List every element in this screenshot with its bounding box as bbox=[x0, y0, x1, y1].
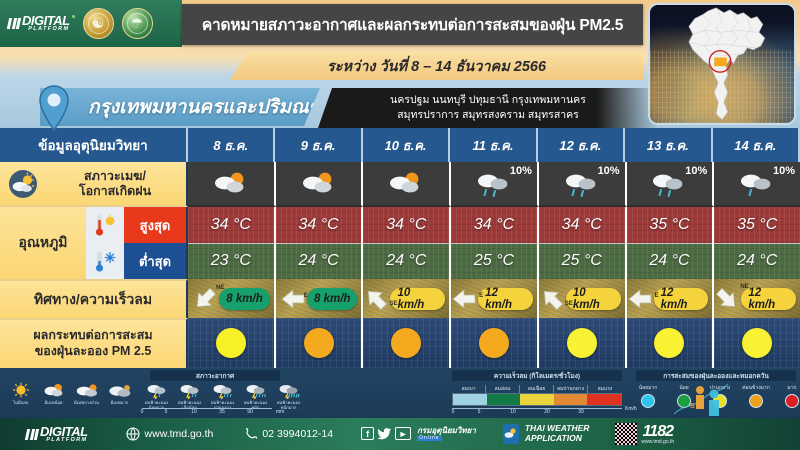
footer-phone-text: 02 3994012-14 bbox=[262, 428, 333, 440]
wind-direction-label-0: NE bbox=[216, 285, 224, 291]
legend-item-rain-4: ฝนฟ้าคะนอง หนัก bbox=[239, 382, 272, 411]
page-title-text: คาดหมายสภาวะอากาศและผลกระทบต่อการสะสมของ… bbox=[202, 12, 623, 37]
pm25-indicator-5 bbox=[654, 328, 684, 358]
province-line-1: นครปฐม นนทบุรี ปทุมธานี กรุงเทพมหานคร bbox=[390, 93, 586, 108]
wind-color-scale bbox=[452, 393, 622, 406]
wind-row-label: ทิศทาง/ความเร็วลม bbox=[0, 279, 188, 318]
temp-col-0: 34 °C 23 °C bbox=[188, 207, 276, 279]
temp-col-5: 35 °C 24 °C bbox=[627, 207, 715, 279]
partly-cloudy-icon bbox=[385, 169, 427, 199]
province-line-2: สมุทรปราการ สมุทรสงคราม สมุทรสาคร bbox=[397, 108, 579, 123]
sun-icon bbox=[11, 382, 31, 399]
temp-col-1: 34 °C 24 °C bbox=[276, 207, 364, 279]
legend-item-rain-1: ฝนฟ้าคะนอง น้อยมาก bbox=[140, 382, 173, 411]
max-temp-5: 35 °C bbox=[627, 207, 713, 244]
location-pin-icon bbox=[36, 84, 72, 132]
wind-swatch-4 bbox=[587, 394, 621, 405]
youtube-icon[interactable]: ► bbox=[395, 427, 411, 440]
region-name: กรุงเทพมหานครและปริมณฑล bbox=[88, 92, 336, 122]
thunderstorm-icon bbox=[244, 382, 268, 399]
app-icon bbox=[502, 423, 520, 445]
cloud-cell-1 bbox=[276, 162, 364, 207]
wind-direction-arrow-icon bbox=[627, 286, 653, 312]
facebook-icon[interactable]: f bbox=[361, 427, 374, 440]
min-temp-label: ต่ำสุด bbox=[124, 243, 186, 279]
wind-tick-0: 0 bbox=[444, 409, 462, 415]
wind-direction-label-4: SE bbox=[565, 301, 573, 307]
dust-item-4: มาก bbox=[774, 384, 800, 408]
wind-direction-arrow-icon bbox=[280, 286, 306, 312]
wind-cell-0: NE 8 km/h bbox=[188, 279, 276, 318]
rain-cloud-icon bbox=[473, 168, 515, 200]
temp-col-2: 34 °C 24 °C bbox=[363, 207, 451, 279]
rain-cloud-icon bbox=[561, 168, 603, 200]
cloud-cell-0 bbox=[188, 162, 276, 207]
wind-cell-4: SE 10 km/h bbox=[539, 279, 627, 318]
partly-cloudy-icon bbox=[41, 382, 67, 399]
rain-legend-items: ฝนฟ้าคะนอง น้อยมาก ฝนฟ้าคะนอง เล็กน้อย ฝ… bbox=[140, 382, 305, 411]
date-header-0: 8 ธ.ค. bbox=[188, 128, 275, 162]
max-temp-chip: สูงสุด bbox=[86, 207, 186, 243]
people-illustration: S bbox=[670, 374, 730, 418]
forecast-table: ข้อมูลอุตุนิยมวิทยา 8 ธ.ค. 9 ธ.ค. 10 ธ.ค… bbox=[0, 128, 800, 368]
footer-brand-subtitle: PLATFORM bbox=[40, 438, 88, 444]
legend-item-cloudy: มีเมฆมาก bbox=[103, 382, 136, 405]
legend-label-cloudy: มีเมฆมาก bbox=[111, 400, 129, 405]
legend-item-rain-3: ฝนฟ้าคะนอง ปานกลาง bbox=[206, 382, 239, 411]
wind-tick-3: 20 bbox=[530, 409, 564, 415]
thunderstorm-icon bbox=[145, 382, 169, 399]
pm25-label-line-1: ผลกระทบต่อการสะสม bbox=[33, 328, 152, 344]
temp-col-3: 34 °C 25 °C bbox=[451, 207, 539, 279]
pm25-indicator-1 bbox=[304, 328, 334, 358]
legend-item-few-clouds: มีเมฆน้อย bbox=[37, 382, 70, 405]
rain-tick-0: 0 bbox=[132, 409, 152, 415]
rain-cloud-icon bbox=[648, 168, 690, 200]
min-temp-0: 23 °C bbox=[188, 244, 274, 280]
footer-social-sub: Online bbox=[417, 436, 441, 441]
thunderstorm-icon bbox=[178, 382, 202, 399]
min-temp-4: 25 °C bbox=[539, 244, 625, 280]
rain-tick-2: 10 bbox=[180, 409, 208, 415]
cloud-row-label-text: สภาวะเมฆ/ โอกาสเกิดฝน bbox=[44, 169, 186, 199]
footer-website[interactable]: www.tmd.go.th bbox=[126, 427, 214, 441]
pm25-cell-2 bbox=[363, 318, 451, 368]
cloud-cell-5: 10% bbox=[627, 162, 715, 207]
pm25-indicator-3 bbox=[479, 328, 509, 358]
pm25-label-line-2: ของฝุ่นละออง PM 2.5 bbox=[35, 344, 152, 360]
province-list: นครปฐม นนทบุรี ปทุมธานี กรุงเทพมหานคร สม… bbox=[318, 88, 658, 128]
footer-logo: DIGITAL PLATFORM bbox=[26, 425, 88, 444]
wind-swatch-1 bbox=[487, 394, 521, 405]
wind-direction-arrow-icon bbox=[451, 286, 477, 312]
region-banner: กรุงเทพมหานครและปริมณฑล bbox=[40, 88, 320, 126]
min-temp-3: 25 °C bbox=[451, 244, 537, 280]
wind-swatch-0 bbox=[453, 394, 487, 405]
pm25-indicator-4 bbox=[567, 328, 597, 358]
footer-hotline-number: 1182 bbox=[643, 424, 673, 440]
wind-category-labels: ลมเบา ลมอ่อน ลมเฉื่อย ลมปานกลาง ลมแรง bbox=[452, 385, 622, 393]
temperature-label-text: อุณหภูมิ bbox=[0, 207, 86, 279]
wind-direction-label-5: E bbox=[655, 293, 659, 299]
footer-hotline[interactable]: 1182 www.tmd.go.th bbox=[615, 423, 674, 445]
legend-label-partly-cloudy: มีเมฆบางส่วน bbox=[74, 400, 99, 405]
wind-speed-5: 12 km/h bbox=[654, 288, 709, 310]
footer-app-line-2: APPLICATION bbox=[525, 434, 590, 444]
date-header-1: 9 ธ.ค. bbox=[275, 128, 362, 162]
max-temp-3: 34 °C bbox=[451, 207, 537, 244]
footer-website-text: www.tmd.go.th bbox=[145, 428, 214, 440]
max-temp-4: 34 °C bbox=[539, 207, 625, 244]
footer-brand-name: DIGITAL bbox=[40, 425, 88, 438]
thermometer-cold-icon bbox=[86, 243, 124, 279]
pm25-row-label: ผลกระทบต่อการสะสม ของฝุ่นละออง PM 2.5 bbox=[0, 318, 188, 368]
min-temp-chip: ต่ำสุด bbox=[86, 243, 186, 279]
wind-speed-0: 8 km/h bbox=[219, 288, 269, 310]
date-header-5: 13 ธ.ค. bbox=[625, 128, 712, 162]
wind-cell-3: E 12 km/h bbox=[451, 279, 539, 318]
legend-bar: สภาวะอากาศ ความเร็วลม (กิโลเมตร/ชั่วโมง)… bbox=[0, 368, 800, 418]
rain-chance-3: 10% bbox=[510, 165, 532, 177]
phone-icon bbox=[243, 427, 257, 441]
wind-speed-4: 10 km/h bbox=[566, 288, 621, 310]
svg-text:S: S bbox=[690, 403, 695, 410]
cloud-cell-2 bbox=[363, 162, 451, 207]
wind-row: ทิศทาง/ความเร็วลม NE 8 km/h E 8 km/h SE … bbox=[0, 279, 800, 318]
legend-item-clear: ไม่มีเมฆ bbox=[4, 382, 37, 405]
partly-cloudy-sun-icon bbox=[8, 169, 38, 199]
partly-cloudy-icon bbox=[210, 169, 252, 199]
rain-unit-label: mm bbox=[276, 409, 284, 415]
wind-direction-label-3: E bbox=[479, 293, 483, 299]
wind-speed-3: 12 km/h bbox=[478, 288, 533, 310]
cloudy-icon bbox=[107, 382, 133, 399]
wind-swatch-2 bbox=[520, 394, 554, 405]
dust-swatch-3 bbox=[749, 394, 763, 408]
pm25-cell-5 bbox=[627, 318, 715, 368]
thunderstorm-icon bbox=[277, 382, 301, 399]
wind-legend-title: ความเร็วลม (กิโลเมตร/ชั่วโมง) bbox=[452, 370, 622, 381]
dust-item-3: ค่อนข้างมาก bbox=[738, 384, 774, 408]
pm25-impact-row: ผลกระทบต่อการสะสม ของฝุ่นละออง PM 2.5 bbox=[0, 318, 800, 368]
dust-label-4: มาก bbox=[787, 384, 796, 392]
wind-cat-2: ลมเฉื่อย bbox=[520, 385, 554, 393]
footer-app[interactable]: THAI WEATHER APPLICATION bbox=[502, 423, 590, 445]
wind-direction-label-6: NE bbox=[740, 284, 748, 290]
legend-label-clear: ไม่มีเมฆ bbox=[13, 400, 28, 405]
wind-cell-2: SE 10 km/h bbox=[363, 279, 451, 318]
cloud-cell-6: 10% bbox=[714, 162, 800, 207]
legend-item-partly-cloudy: มีเมฆบางส่วน bbox=[70, 382, 103, 405]
wind-scale-ticks: 0 5 10 20 30 bbox=[444, 409, 598, 415]
dust-swatch-4 bbox=[785, 394, 799, 408]
min-temp-2: 24 °C bbox=[363, 244, 449, 280]
wind-cell-6: NE 12 km/h bbox=[714, 279, 800, 318]
thermometer-hot-icon bbox=[86, 207, 124, 243]
thailand-map-outline bbox=[650, 5, 794, 124]
max-temp-label: สูงสุด bbox=[124, 207, 186, 243]
corner-label-text: ข้อมูลอุตุนิยมวิทยา bbox=[38, 134, 147, 156]
wind-swatch-3 bbox=[554, 394, 588, 405]
rain-chance-4: 10% bbox=[598, 165, 620, 177]
wind-direction-label-1: E bbox=[304, 293, 308, 299]
wind-tick-1: 5 bbox=[462, 409, 496, 415]
dust-label-3: ค่อนข้างมาก bbox=[742, 384, 770, 392]
max-temp-6: 35 °C bbox=[714, 207, 800, 244]
wind-cell-5: E 12 km/h bbox=[627, 279, 715, 318]
rain-chance-6: 10% bbox=[773, 165, 795, 177]
dust-swatch-0 bbox=[641, 394, 655, 408]
qr-code-icon[interactable] bbox=[615, 423, 637, 445]
temp-col-6: 35 °C 24 °C bbox=[714, 207, 800, 279]
tmd-seal-icon: ☂ bbox=[122, 8, 153, 39]
royal-seal-icon: ☯ bbox=[83, 8, 114, 39]
rain-tick-1: 5 bbox=[152, 409, 180, 415]
legend-item-rain-2: ฝนฟ้าคะนอง เล็กน้อย bbox=[173, 382, 206, 411]
thailand-map bbox=[648, 3, 796, 125]
max-temp-1: 34 °C bbox=[276, 207, 362, 244]
min-temp-6: 24 °C bbox=[714, 244, 800, 280]
temperature-row-label: อุณหภูมิ สูงสุด bbox=[0, 207, 188, 279]
date-header-4: 12 ธ.ค. bbox=[538, 128, 625, 162]
wind-cat-3: ลมปานกลาง bbox=[554, 385, 588, 393]
wind-cell-1: E 8 km/h bbox=[276, 279, 364, 318]
pm25-cell-0 bbox=[188, 318, 276, 368]
brand-bar: DIGITAL PLATFORM ☯ ☂ bbox=[0, 0, 182, 47]
wind-cat-4: ลมแรง bbox=[588, 385, 622, 393]
logo-bars-icon bbox=[26, 429, 38, 440]
dust-label-0: น้อยมาก bbox=[639, 384, 657, 392]
page-footer: DIGITAL PLATFORM www.tmd.go.th 02 399401… bbox=[0, 418, 800, 450]
temperature-row: อุณหภูมิ สูงสุด bbox=[0, 207, 800, 279]
max-temp-2: 34 °C bbox=[363, 207, 449, 244]
date-range-text: ระหว่าง วันที่ 8 – 14 ธันวาคม 2566 bbox=[327, 55, 546, 78]
wind-direction-label-2: SE bbox=[389, 301, 397, 307]
date-header-2: 10 ธ.ค. bbox=[363, 128, 450, 162]
rain-chance-5: 10% bbox=[685, 165, 707, 177]
thunderstorm-icon bbox=[211, 382, 235, 399]
date-range-banner: ระหว่าง วันที่ 8 – 14 ธันวาคม 2566 bbox=[230, 52, 643, 80]
pm25-cell-1 bbox=[276, 318, 364, 368]
date-header-3: 11 ธ.ค. bbox=[450, 128, 537, 162]
digital-platform-logo: DIGITAL PLATFORM bbox=[8, 14, 75, 33]
wind-speed-2: 10 km/h bbox=[390, 288, 445, 310]
wind-cat-1: ลมอ่อน bbox=[486, 385, 520, 393]
twitter-icon[interactable] bbox=[377, 427, 392, 440]
pm25-indicator-6 bbox=[742, 328, 772, 358]
brand-subtitle: PLATFORM bbox=[22, 27, 70, 33]
max-temp-0: 34 °C bbox=[188, 207, 274, 244]
logo-dot-icon bbox=[72, 15, 75, 18]
pm25-cell-4 bbox=[539, 318, 627, 368]
min-temp-5: 24 °C bbox=[627, 244, 713, 280]
logo-bars-icon bbox=[8, 18, 20, 29]
wind-row-label-text: ทิศทาง/ความเร็วลม bbox=[34, 289, 152, 311]
footer-qr-caption: www.tmd.go.th bbox=[641, 440, 674, 445]
wind-cat-0: ลมเบา bbox=[452, 385, 486, 393]
wind-tick-2: 10 bbox=[496, 409, 530, 415]
rain-tick-3: 35 bbox=[208, 409, 236, 415]
pm25-cell-6 bbox=[714, 318, 800, 368]
legend-item-rain-5: ฝนฟ้าคะนอง หนักมาก bbox=[272, 382, 305, 411]
page-header: DIGITAL PLATFORM ☯ ☂ คาดหมายสภาวะอากาศแล… bbox=[0, 0, 800, 128]
pm25-indicator-2 bbox=[391, 328, 421, 358]
weather-legend-title: สภาวะอากาศ bbox=[150, 370, 280, 381]
globe-icon bbox=[126, 427, 140, 441]
temp-col-4: 34 °C 25 °C bbox=[539, 207, 627, 279]
pm25-cell-3 bbox=[451, 318, 539, 368]
rain-scale-ticks: 0 5 10 35 90 bbox=[132, 409, 264, 415]
wind-tick-4: 30 bbox=[564, 409, 598, 415]
weather-legend-items: ไม่มีเมฆ มีเมฆน้อย มีเมฆบางส่วน มีเมฆมาก bbox=[4, 382, 136, 405]
mostly-cloudy-icon bbox=[74, 382, 100, 399]
legend-label-few-clouds: มีเมฆน้อย bbox=[45, 400, 63, 405]
date-header-6: 14 ธ.ค. bbox=[713, 128, 800, 162]
cloud-cell-4: 10% bbox=[539, 162, 627, 207]
wind-speed-6: 12 km/h bbox=[741, 288, 796, 310]
footer-social[interactable]: f ► กรมอุตุนิยมวิทยา Online bbox=[361, 427, 476, 441]
page-title: คาดหมายสภาวะอากาศและผลกระทบต่อการสะสมของ… bbox=[182, 4, 643, 45]
wind-speed-1: 8 km/h bbox=[307, 288, 357, 310]
rain-tick-4: 90 bbox=[236, 409, 264, 415]
table-corner-label: ข้อมูลอุตุนิยมวิทยา bbox=[0, 128, 188, 162]
cloud-cell-3: 10% bbox=[451, 162, 539, 207]
footer-phone[interactable]: 02 3994012-14 bbox=[243, 427, 333, 441]
dust-item-0: น้อยมาก bbox=[630, 384, 666, 408]
rain-cloud-icon bbox=[736, 168, 778, 200]
table-header-row: ข้อมูลอุตุนิยมวิทยา 8 ธ.ค. 9 ธ.ค. 10 ธ.ค… bbox=[0, 128, 800, 162]
pm25-indicator-0 bbox=[216, 328, 246, 358]
cloud-row-label: สภาวะเมฆ/ โอกาสเกิดฝน bbox=[0, 162, 188, 207]
cloud-condition-row: สภาวะเมฆ/ โอกาสเกิดฝน bbox=[0, 162, 800, 207]
partly-cloudy-icon bbox=[298, 169, 340, 199]
min-temp-1: 24 °C bbox=[276, 244, 362, 280]
